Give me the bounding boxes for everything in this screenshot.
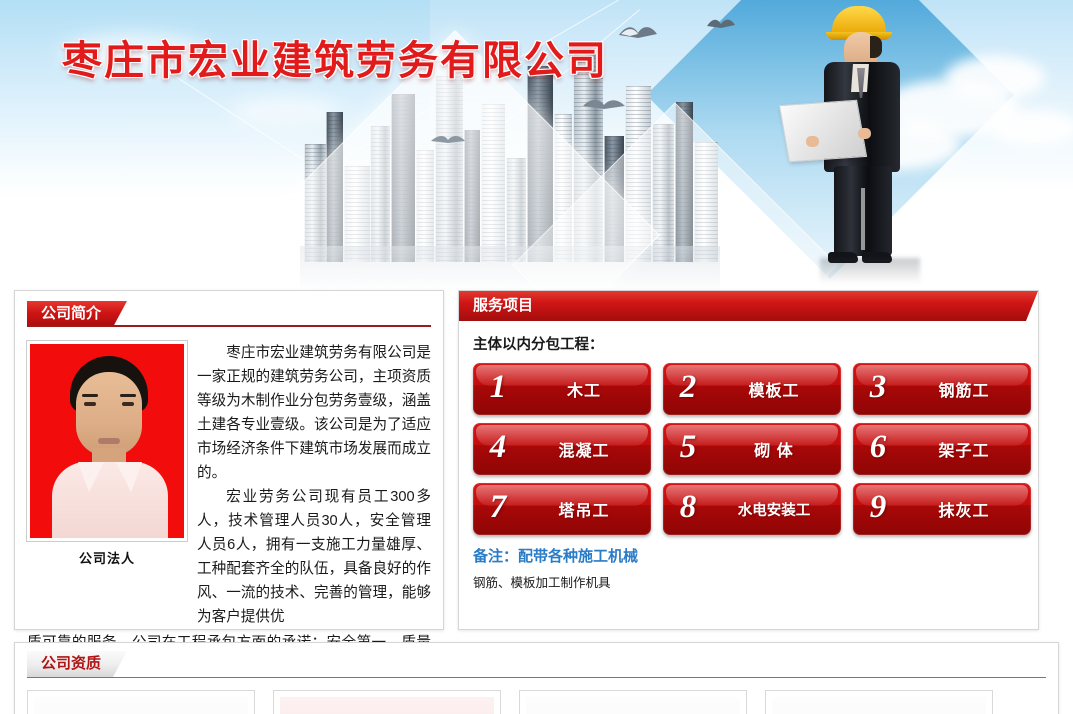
certificate-thumbnail[interactable] <box>519 690 747 714</box>
legal-person-photo-block: 公司法人 <box>27 341 187 629</box>
company-intro-header: 公司简介 <box>27 301 431 327</box>
service-number: 1 <box>473 371 523 407</box>
cloud-icon <box>945 56 1045 100</box>
certificate-thumbnail[interactable] <box>765 690 993 714</box>
bird-icon <box>706 16 736 32</box>
qualifications-header: 公司资质 <box>27 651 1046 678</box>
service-item-6[interactable]: 6 架子工 <box>853 423 1031 475</box>
intro-paragraph-2: 宏业劳务公司现有员工300多人，技术管理人员30人，安全管理人员6人，拥有一支施… <box>197 485 431 629</box>
site-banner: 枣庄市宏业建筑劳务有限公司 <box>0 0 1073 290</box>
worker-reflection <box>820 258 920 284</box>
cloud-icon <box>990 110 1073 146</box>
divider <box>27 677 1046 678</box>
service-number: 3 <box>853 371 903 407</box>
legal-person-portrait <box>27 341 187 541</box>
service-number: 2 <box>663 371 713 407</box>
service-number: 6 <box>853 431 903 467</box>
divider <box>27 325 431 327</box>
service-item-5[interactable]: 5 砌 体 <box>663 423 841 475</box>
service-number: 9 <box>853 491 903 527</box>
services-subtitle: 主体以内分包工程： <box>473 333 1024 354</box>
service-label: 塔吊工 <box>523 497 651 521</box>
service-label: 水电安装工 <box>713 499 841 520</box>
qualifications-panel: 公司资质 <box>14 642 1059 714</box>
company-intro-text: 枣庄市宏业建筑劳务有限公司是一家正规的建筑劳务公司，主项资质等级为木制作业分包劳… <box>197 341 431 629</box>
tab-company-qualifications[interactable]: 公司资质 <box>27 651 127 677</box>
services-body: 主体以内分包工程： 1 木工 2 模板工 3 钢筋工 4 <box>459 321 1038 601</box>
tab-services[interactable]: 服务项目 <box>459 291 1038 321</box>
services-panel: 服务项目 主体以内分包工程： 1 木工 2 模板工 3 钢筋工 <box>458 290 1039 630</box>
services-note: 备注：配带各种施工机械 <box>473 545 1024 566</box>
service-item-8[interactable]: 8 水电安装工 <box>663 483 841 535</box>
service-number: 4 <box>473 431 523 467</box>
hardhat-worker-icon <box>800 6 930 274</box>
services-grid: 1 木工 2 模板工 3 钢筋工 4 混凝工 <box>473 363 1024 535</box>
service-label: 砌 体 <box>713 437 841 461</box>
service-label: 木工 <box>523 377 651 401</box>
page-content: 公司简介 公司法人 <box>0 290 1073 714</box>
intro-paragraph-1: 枣庄市宏业建筑劳务有限公司是一家正规的建筑劳务公司，主项资质等级为木制作业分包劳… <box>197 341 431 485</box>
bird-icon <box>618 22 658 44</box>
service-label: 钢筋工 <box>903 377 1031 401</box>
certificate-row <box>27 690 1046 714</box>
bird-icon <box>582 95 626 113</box>
tab-company-intro[interactable]: 公司简介 <box>27 301 127 327</box>
company-intro-panel: 公司简介 公司法人 <box>14 290 444 630</box>
service-item-2[interactable]: 2 模板工 <box>663 363 841 415</box>
service-item-1[interactable]: 1 木工 <box>473 363 651 415</box>
company-title: 枣庄市宏业建筑劳务有限公司 <box>62 28 608 86</box>
service-label: 模板工 <box>713 377 841 401</box>
bird-icon <box>430 132 466 146</box>
service-item-4[interactable]: 4 混凝工 <box>473 423 651 475</box>
company-intro-body: 公司法人 枣庄市宏业建筑劳务有限公司是一家正规的建筑劳务公司，主项资质等级为木制… <box>27 341 431 629</box>
service-label: 架子工 <box>903 437 1031 461</box>
certificate-thumbnail[interactable] <box>273 690 501 714</box>
photo-caption: 公司法人 <box>27 548 187 567</box>
services-note-sub: 钢筋、模板加工制作机具 <box>473 572 1024 591</box>
service-label: 混凝工 <box>523 437 651 461</box>
service-label: 抹灰工 <box>903 497 1031 521</box>
service-number: 5 <box>663 431 713 467</box>
service-item-9[interactable]: 9 抹灰工 <box>853 483 1031 535</box>
service-item-3[interactable]: 3 钢筋工 <box>853 363 1031 415</box>
service-number: 7 <box>473 491 523 527</box>
service-item-7[interactable]: 7 塔吊工 <box>473 483 651 535</box>
service-number: 8 <box>663 491 713 527</box>
certificate-thumbnail[interactable] <box>27 690 255 714</box>
